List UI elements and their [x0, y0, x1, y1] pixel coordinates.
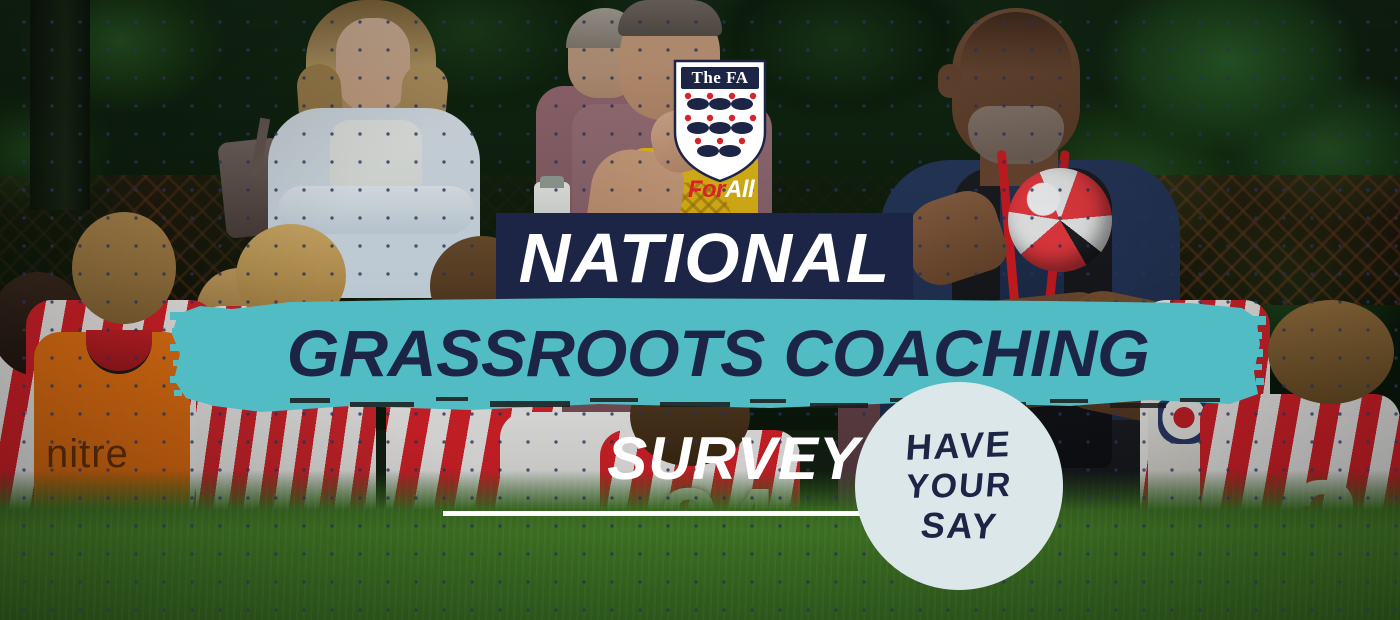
promotional-banner: nitre 24 2 — [0, 0, 1400, 620]
the-fa-logo: The FA ForAll — [672, 58, 768, 208]
horizontal-rule — [443, 511, 913, 516]
fa-strapline-all: All — [725, 176, 754, 203]
headline-line-national: NATIONAL — [492, 213, 917, 303]
fa-strapline-for: For — [688, 176, 725, 203]
headline-line-grassroots-coaching: GRASSROOTS COACHING — [154, 294, 1283, 412]
fa-strapline: ForAll — [666, 176, 776, 204]
headline-line-survey: SURVEY — [560, 424, 860, 494]
badge-line-2: YOUR — [904, 465, 1014, 507]
have-your-say-badge: HAVE YOUR SAY — [855, 382, 1063, 590]
badge-line-3: SAY — [918, 505, 999, 546]
headline-lockup: The FA ForAll NATIONAL — [0, 0, 1400, 620]
fa-wordmark: The FA — [681, 67, 759, 89]
badge-line-1: HAVE — [905, 424, 1013, 468]
